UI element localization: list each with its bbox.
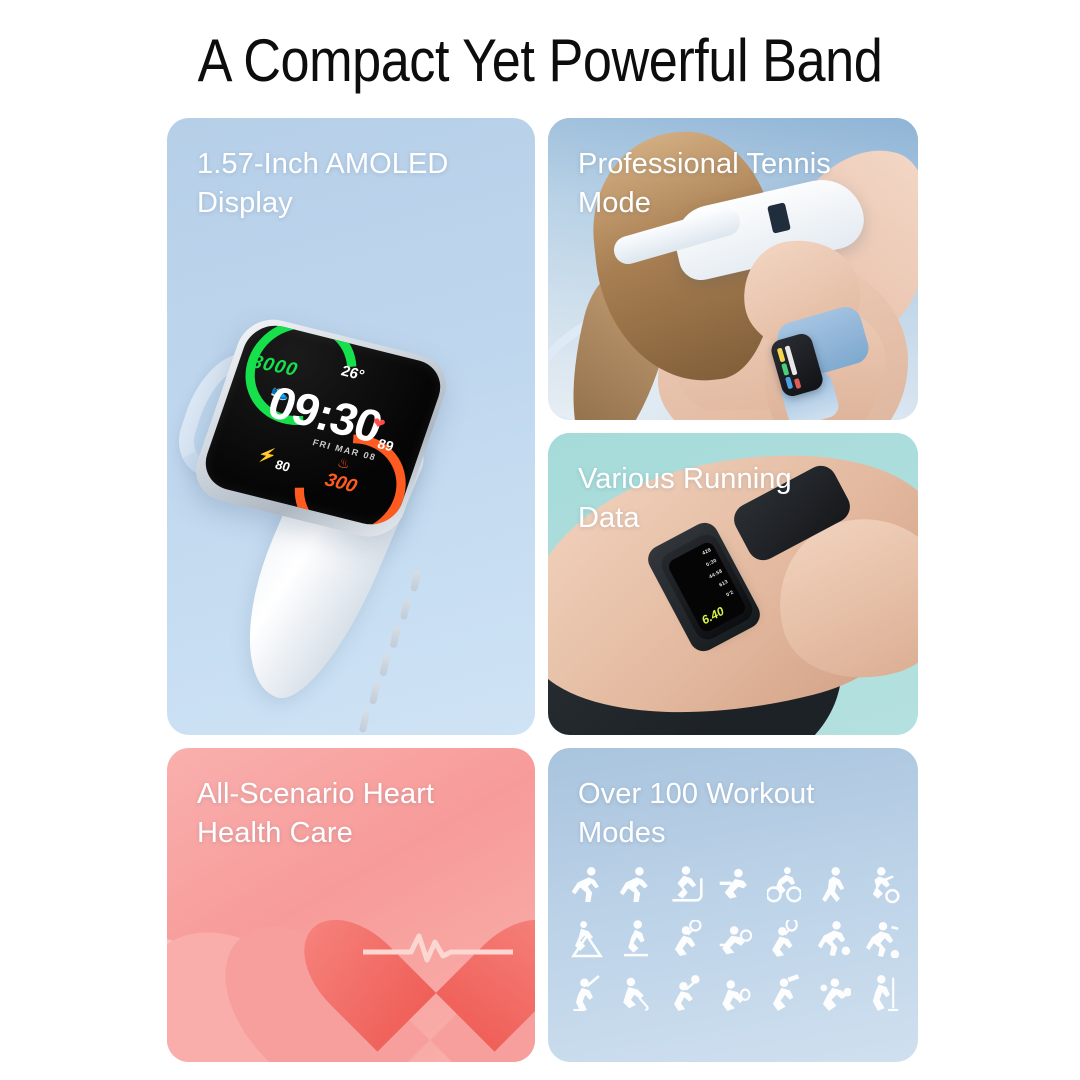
workout-icon-row-1 <box>570 866 900 904</box>
running-stat-5: 0'2 <box>725 590 735 599</box>
basketball-icon <box>866 920 900 958</box>
elliptical-icon <box>570 920 604 958</box>
infographic-page: A Compact Yet Powerful Band 1.57-Inch AM… <box>0 0 1080 1080</box>
soccer-icon <box>817 920 851 958</box>
running-stat-1: 428 <box>701 547 712 557</box>
walking-icon <box>817 866 851 904</box>
volleyball-serve-icon <box>669 974 703 1012</box>
card-title-running-data: Various Running Data <box>578 460 792 537</box>
running-icon <box>570 866 604 904</box>
volleyball-icon <box>718 920 752 958</box>
hockey-icon <box>619 974 653 1012</box>
card-title-workout-modes: Over 100 Workout Modes <box>578 775 814 852</box>
card-amoled-display[interactable]: 1.57-Inch AMOLED Display 8000 👟 26° <box>167 118 535 735</box>
running-stat-2: 0:30 <box>705 558 718 569</box>
workout-icon-row-2 <box>570 920 900 958</box>
workout-icon-row-3 <box>570 974 900 1012</box>
golf-icon <box>570 974 604 1012</box>
rowing-machine-icon <box>866 866 900 904</box>
tennis-icon <box>767 920 801 958</box>
skateboarding-icon <box>619 920 653 958</box>
table-tennis-icon <box>718 974 752 1012</box>
badminton-icon <box>669 920 703 958</box>
card-title-amoled-display: 1.57-Inch AMOLED Display <box>197 145 448 222</box>
workout-icon-grid <box>570 866 900 1028</box>
treadmill-icon <box>669 866 703 904</box>
card-tennis-mode[interactable]: Professional Tennis Mode <box>548 118 918 420</box>
running-stat-3: 44:58 <box>708 568 723 580</box>
card-title-heart-health: All-Scenario Heart Health Care <box>197 775 434 852</box>
running-distance-value: 6.40 <box>699 604 726 627</box>
boxing-icon <box>817 974 851 1012</box>
baseball-icon <box>767 974 801 1012</box>
page-title: A Compact Yet Powerful Band <box>70 26 1010 95</box>
rowing-icon <box>718 866 752 904</box>
smartwatch-product-image: 8000 👟 26° 09:30 FRI MAR 08 ❤ 89 ⚡ 80 ♨ … <box>179 333 535 733</box>
card-title-tennis-mode: Professional Tennis Mode <box>578 145 831 222</box>
sprinting-icon <box>619 866 653 904</box>
cycling-icon <box>767 866 801 904</box>
battery-value: 80 <box>273 457 292 475</box>
card-running-data[interactable]: Various Running Data 428 0:30 44:58 613 … <box>548 433 918 735</box>
feature-card-grid: 1.57-Inch AMOLED Display 8000 👟 26° <box>167 118 918 1062</box>
card-heart-health[interactable]: All-Scenario Heart Health Care <box>167 748 535 1062</box>
running-stat-4: 613 <box>718 579 729 589</box>
ecg-pulse-icon <box>363 926 513 970</box>
card-workout-modes[interactable]: Over 100 Workout Modes <box>548 748 918 1062</box>
skiing-icon <box>866 974 900 1012</box>
